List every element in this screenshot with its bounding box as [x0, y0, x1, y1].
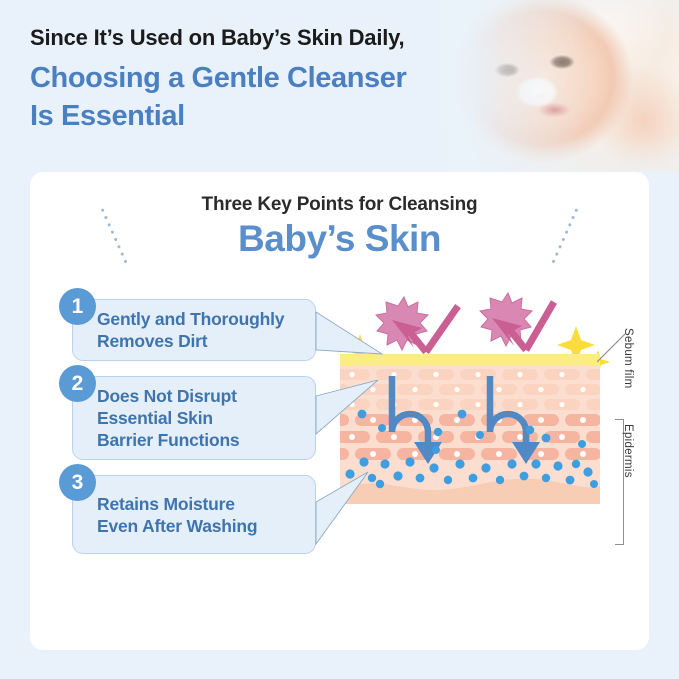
callout-box-1[interactable]: Gently and ThoroughlyRemoves Dirt [72, 299, 316, 361]
skin-cross-section-diagram [330, 292, 610, 572]
header-line-3: Is Essential [30, 97, 500, 135]
header-banner: Since It’s Used on Baby’s Skin Daily, Ch… [0, 0, 679, 172]
header-line-2: Choosing a Gentle Cleanser [30, 59, 500, 97]
dirt-particle-starburst [376, 293, 532, 350]
sebum-film-layer [340, 354, 600, 365]
header-line-1: Since It’s Used on Baby’s Skin Daily, [30, 24, 500, 52]
callout-3-text: Retains MoistureEven After Washing [97, 492, 301, 536]
label-epidermis: Epidermis [622, 424, 634, 478]
callout-box-2[interactable]: Does Not DisruptEssential SkinBarrier Fu… [72, 376, 316, 460]
main-card: Three Key Points for Cleansing Baby’s Sk… [30, 172, 649, 650]
label-sebum-film: Sebum film [622, 328, 634, 389]
callout-badge-3: 3 [59, 464, 96, 501]
callout-badge-2: 2 [59, 365, 96, 402]
callout-1-text: Gently and ThoroughlyRemoves Dirt [97, 308, 301, 352]
callout-badge-1: 1 [59, 288, 96, 325]
callout-box-3[interactable]: Retains MoistureEven After Washing [72, 475, 316, 554]
header-text-block: Since It’s Used on Baby’s Skin Daily, Ch… [30, 24, 500, 135]
card-title-block: Three Key Points for Cleansing Baby’s Sk… [30, 194, 649, 260]
card-kicker: Three Key Points for Cleansing [30, 194, 649, 216]
callout-2-text: Does Not DisruptEssential SkinBarrier Fu… [97, 385, 301, 451]
